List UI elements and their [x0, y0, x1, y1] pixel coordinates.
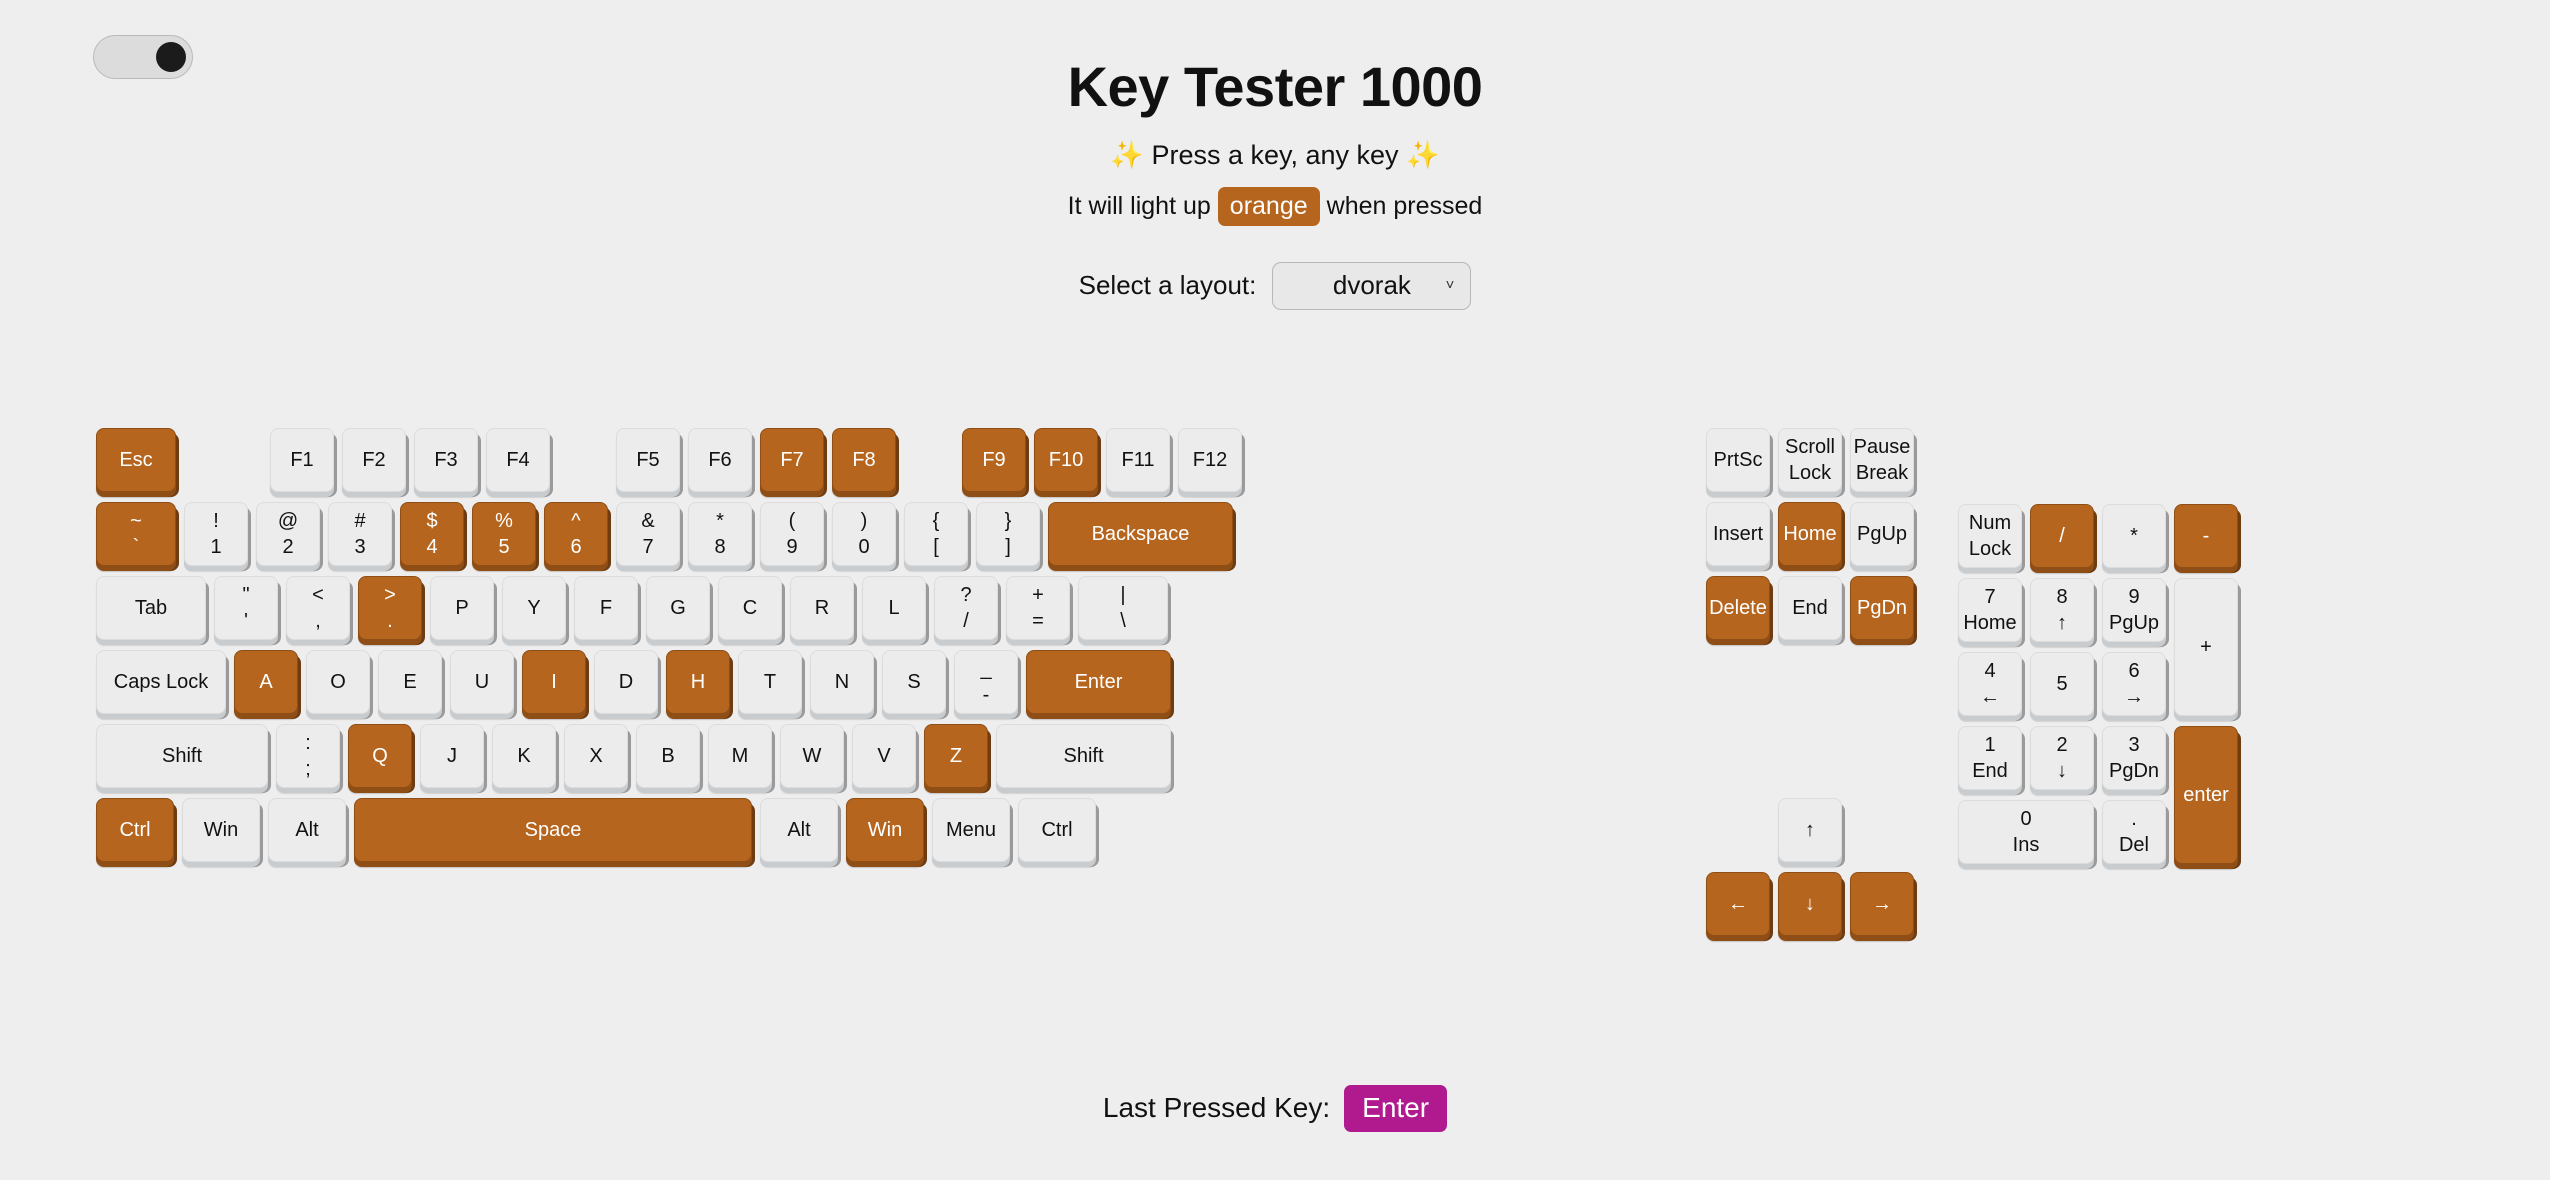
key-a[interactable]: A [234, 650, 298, 714]
key-label: R [815, 597, 829, 619]
key-label-top: Pause [1854, 436, 1911, 458]
key-i[interactable]: I [522, 650, 586, 714]
key-label-top: 6 [2128, 660, 2139, 682]
key-label: L [888, 597, 899, 619]
key-label: W [803, 745, 822, 767]
key-f4[interactable]: F4 [486, 428, 550, 492]
key-num1[interactable]: 1End [1958, 726, 2022, 790]
key-label: Delete [1709, 597, 1767, 619]
key-num5[interactable]: 5 [2030, 652, 2094, 716]
key-arrowdown[interactable]: ↓ [1778, 872, 1842, 936]
key-digit3[interactable]: #3 [328, 502, 392, 566]
page-subtitle: ✨ Press a key, any key ✨ [0, 139, 2550, 171]
key-f11[interactable]: F11 [1106, 428, 1170, 492]
key-space[interactable]: Space [354, 798, 752, 862]
key-label-bottom: PgDn [2109, 760, 2159, 782]
key-label: F4 [506, 449, 529, 471]
key-insert[interactable]: Insert [1706, 502, 1770, 566]
key-label: P [455, 597, 468, 619]
key-label-bottom: ↓ [2057, 760, 2067, 782]
key-label: S [907, 671, 920, 693]
key-p[interactable]: P [430, 576, 494, 640]
key-num2[interactable]: 2↓ [2030, 726, 2094, 790]
key-label-bottom: ' [244, 610, 248, 632]
key-label: Enter [1075, 671, 1123, 693]
key-f5[interactable]: F5 [616, 428, 680, 492]
arrow-cluster-blank [1850, 798, 1914, 862]
key-label-bottom: , [315, 610, 321, 632]
key-row-home: Caps LockAOEUIDHTNS_-Enter [96, 650, 1242, 714]
key-row-tab: Tab"'<,>.PYFGCRL?/+=|\ [96, 576, 1242, 640]
key-label: Shift [1063, 745, 1103, 767]
key-label-bottom: ` [133, 536, 140, 558]
key-label: Space [525, 819, 582, 841]
key-label-top: 7 [1984, 586, 1995, 608]
key-num3[interactable]: 3PgDn [2102, 726, 2166, 790]
key-label-top: 2 [2056, 734, 2067, 756]
key-label-top: ? [960, 584, 971, 606]
key-label: Y [527, 597, 540, 619]
key-label: Alt [295, 819, 318, 841]
key-label-bottom: PgUp [2109, 612, 2159, 634]
page-title: Key Tester 1000 [0, 58, 2550, 117]
key-label-top: } [1005, 510, 1012, 532]
toggle-knob-icon [156, 42, 186, 72]
key-label: Esc [119, 449, 152, 471]
key-label: Shift [162, 745, 202, 767]
key-altright[interactable]: Alt [760, 798, 838, 862]
key-num0[interactable]: 0Ins [1958, 800, 2094, 864]
key-label-top: ( [789, 510, 796, 532]
key-label: End [1792, 597, 1828, 619]
key-u[interactable]: U [450, 650, 514, 714]
key-label: enter [2183, 784, 2229, 806]
key-label: O [330, 671, 346, 693]
key-esc[interactable]: Esc [96, 428, 176, 492]
key-label-bottom: 1 [210, 536, 221, 558]
key-g[interactable]: G [646, 576, 710, 640]
key-label: Win [204, 819, 238, 841]
last-pressed-key: Last Pressed Key: Enter [0, 1085, 2550, 1132]
key-label: / [2059, 525, 2065, 547]
key-label-top: ^ [571, 510, 580, 532]
key-numlock[interactable]: NumLock [1958, 504, 2022, 568]
key-bracketleft[interactable]: {[ [904, 502, 968, 566]
key-label-bottom: Home [1963, 612, 2016, 634]
key-label-bottom: - [983, 684, 990, 706]
key-label: PrtSc [1714, 449, 1763, 471]
key-o[interactable]: O [306, 650, 370, 714]
key-backquote[interactable]: ~` [96, 502, 176, 566]
key-label: U [475, 671, 489, 693]
key-pausebreak[interactable]: PauseBreak [1850, 428, 1914, 492]
key-label: F12 [1193, 449, 1227, 471]
layout-selector-label: Select a layout: [1079, 270, 1257, 301]
key-backslash[interactable]: |\ [1078, 576, 1168, 640]
orange-chip: orange [1218, 187, 1320, 226]
key-row-shift: Shift:;QJKXBMWVZShift [96, 724, 1242, 788]
key-j[interactable]: J [420, 724, 484, 788]
key-num4[interactable]: 4← [1958, 652, 2022, 716]
key-f3[interactable]: F3 [414, 428, 478, 492]
key-label: → [1872, 893, 1892, 915]
key-f2[interactable]: F2 [342, 428, 406, 492]
key-ctrlleft[interactable]: Ctrl [96, 798, 174, 862]
key-label-bottom: \ [1120, 610, 1126, 632]
key-label-top: Scroll [1785, 436, 1835, 458]
key-capslock[interactable]: Caps Lock [96, 650, 226, 714]
key-bracketright[interactable]: }] [976, 502, 1040, 566]
key-d[interactable]: D [594, 650, 658, 714]
key-label-top: 9 [2128, 586, 2139, 608]
key-label: F11 [1122, 449, 1155, 471]
key-h[interactable]: H [666, 650, 730, 714]
key-num9[interactable]: 9PgUp [2102, 578, 2166, 642]
key-equal[interactable]: += [1006, 576, 1070, 640]
key-f7[interactable]: F7 [760, 428, 824, 492]
key-scrolllock[interactable]: ScrollLock [1778, 428, 1842, 492]
key-shiftleft[interactable]: Shift [96, 724, 268, 788]
key-num6[interactable]: 6→ [2102, 652, 2166, 716]
key-label-bottom: 2 [282, 536, 293, 558]
key-label-bottom: [ [933, 536, 939, 558]
key-comma[interactable]: <, [286, 576, 350, 640]
key-label-bottom: ↑ [2057, 612, 2067, 634]
key-label-top: 1 [1984, 734, 1995, 756]
key-label: F2 [362, 449, 385, 471]
key-label-top: | [1120, 584, 1125, 606]
key-numdecimal[interactable]: .Del [2102, 800, 2166, 864]
key-menu[interactable]: Menu [932, 798, 1010, 862]
key-nummultiply[interactable]: * [2102, 504, 2166, 568]
key-label-bottom: 3 [354, 536, 365, 558]
key-label: - [2203, 525, 2210, 547]
key-f12[interactable]: F12 [1178, 428, 1242, 492]
key-quote[interactable]: "' [214, 576, 278, 640]
key-tab[interactable]: Tab [96, 576, 206, 640]
key-label-top: > [384, 584, 396, 606]
key-label: F [600, 597, 612, 619]
key-label: F6 [708, 449, 731, 471]
key-label: Alt [787, 819, 810, 841]
page-tagline: It will light up orange when pressed [0, 187, 2550, 226]
key-label-bottom: 8 [714, 536, 725, 558]
key-digit4[interactable]: $4 [400, 502, 464, 566]
key-label: * [2130, 525, 2138, 547]
key-label: ← [1728, 893, 1748, 915]
key-label-top: ~ [130, 510, 142, 532]
key-label: Backspace [1092, 523, 1190, 545]
key-shiftright[interactable]: Shift [996, 724, 1171, 788]
key-label-bottom: 9 [786, 536, 797, 558]
key-f6[interactable]: F6 [688, 428, 752, 492]
key-label: B [661, 745, 674, 767]
key-digit8[interactable]: *8 [688, 502, 752, 566]
key-label-top: @ [278, 510, 298, 532]
key-digit1[interactable]: !1 [184, 502, 248, 566]
key-label-bottom: End [1972, 760, 2008, 782]
key-label-top: " [242, 584, 249, 606]
key-label: ↓ [1805, 893, 1815, 915]
key-label-top: < [312, 584, 324, 606]
key-s[interactable]: S [882, 650, 946, 714]
key-label-top: ) [861, 510, 868, 532]
key-label: PgDn [1857, 597, 1907, 619]
key-winright[interactable]: Win [846, 798, 924, 862]
key-f8[interactable]: F8 [832, 428, 896, 492]
key-label-bottom: Del [2119, 834, 2149, 856]
key-label-bottom: 4 [426, 536, 437, 558]
key-label-bottom: . [387, 610, 393, 632]
key-label-bottom: ← [1980, 686, 2000, 708]
page-header: Key Tester 1000 ✨ Press a key, any key ✨… [0, 0, 2550, 310]
key-label-bottom: ; [305, 758, 311, 780]
key-row-function: EscF1F2F3F4F5F6F7F8F9F10F11F12 [96, 428, 1242, 492]
key-label-top: # [354, 510, 365, 532]
key-label-top: _ [980, 658, 991, 680]
key-label-bottom: Ins [2013, 834, 2040, 856]
key-label: A [259, 671, 272, 693]
key-label: F10 [1049, 449, 1083, 471]
key-label: H [691, 671, 705, 693]
key-k[interactable]: K [492, 724, 556, 788]
key-c[interactable]: C [718, 576, 782, 640]
key-v[interactable]: V [852, 724, 916, 788]
key-l[interactable]: L [862, 576, 926, 640]
key-label: Caps Lock [114, 671, 209, 693]
dark-mode-toggle[interactable] [93, 35, 193, 79]
key-arrowleft[interactable]: ← [1706, 872, 1770, 936]
key-gap [904, 428, 954, 492]
last-pressed-label: Last Pressed Key: [1103, 1092, 1330, 1124]
key-w[interactable]: W [780, 724, 844, 788]
key-label: T [764, 671, 776, 693]
key-e[interactable]: E [378, 650, 442, 714]
key-t[interactable]: T [738, 650, 802, 714]
key-digit7[interactable]: &7 [616, 502, 680, 566]
key-label: D [619, 671, 633, 693]
key-end[interactable]: End [1778, 576, 1842, 640]
key-x[interactable]: X [564, 724, 628, 788]
key-f[interactable]: F [574, 576, 638, 640]
key-numenter[interactable]: enter [2174, 726, 2238, 864]
key-digit5[interactable]: %5 [472, 502, 536, 566]
key-label-bottom: Break [1856, 462, 1908, 484]
key-label-bottom: / [963, 610, 969, 632]
key-label: PgUp [1857, 523, 1907, 545]
key-period[interactable]: >. [358, 576, 422, 640]
keyboard-arrow-cluster: ↑←↓→ [1706, 798, 1931, 948]
key-f9[interactable]: F9 [962, 428, 1026, 492]
key-pagedown[interactable]: PgDn [1850, 576, 1914, 640]
key-label: E [403, 671, 416, 693]
key-label-bottom: 0 [858, 536, 869, 558]
key-label: Z [950, 745, 962, 767]
key-label-top: : [305, 732, 311, 754]
key-n[interactable]: N [810, 650, 874, 714]
key-label-bottom: Lock [1969, 538, 2011, 560]
key-label-bottom: → [2124, 686, 2144, 708]
key-label: F5 [636, 449, 659, 471]
key-label: J [447, 745, 457, 767]
key-label-top: 3 [2128, 734, 2139, 756]
key-label: ↑ [1805, 819, 1815, 841]
key-label: N [835, 671, 849, 693]
key-label: F3 [434, 449, 457, 471]
key-label: K [517, 745, 530, 767]
key-label: F7 [780, 449, 803, 471]
key-label: V [877, 745, 890, 767]
layout-select[interactable]: dvorak ˅ [1272, 262, 1471, 310]
key-label-top: + [1032, 584, 1044, 606]
key-f10[interactable]: F10 [1034, 428, 1098, 492]
key-label-top: * [716, 510, 724, 532]
tagline-suffix: when pressed [1320, 192, 1490, 221]
key-z[interactable]: Z [924, 724, 988, 788]
key-y[interactable]: Y [502, 576, 566, 640]
key-r[interactable]: R [790, 576, 854, 640]
key-arrowright[interactable]: → [1850, 872, 1914, 936]
key-label: Q [372, 745, 388, 767]
key-label-bottom: 6 [570, 536, 581, 558]
key-pageup[interactable]: PgUp [1850, 502, 1914, 566]
key-slash[interactable]: ?/ [934, 576, 998, 640]
key-label: Ctrl [1041, 819, 1072, 841]
key-label: F1 [290, 449, 313, 471]
key-digit2[interactable]: @2 [256, 502, 320, 566]
key-label: Tab [135, 597, 167, 619]
key-enter[interactable]: Enter [1026, 650, 1171, 714]
key-label: Menu [946, 819, 996, 841]
key-label: M [732, 745, 749, 767]
arrow-cluster-blank [1706, 798, 1770, 862]
tagline-prefix: It will light up [1061, 192, 1218, 221]
key-backspace[interactable]: Backspace [1048, 502, 1233, 566]
key-label-top: { [933, 510, 940, 532]
key-semicolon[interactable]: :; [276, 724, 340, 788]
key-digit6[interactable]: ^6 [544, 502, 608, 566]
key-numdivide[interactable]: / [2030, 504, 2094, 568]
key-label-bottom: 5 [498, 536, 509, 558]
keyboard-nav-cluster: PrtScScrollLockPauseBreakInsertHomePgUpD… [1706, 428, 1914, 640]
key-label-top: Num [1969, 512, 2011, 534]
key-label-top: $ [426, 510, 437, 532]
key-numsubtract[interactable]: - [2174, 504, 2238, 568]
key-label-top: 8 [2056, 586, 2067, 608]
key-label-top: & [641, 510, 654, 532]
key-arrowup[interactable]: ↑ [1778, 798, 1842, 862]
key-label: I [551, 671, 557, 693]
key-num8[interactable]: 8↑ [2030, 578, 2094, 642]
key-num7[interactable]: 7Home [1958, 578, 2022, 642]
key-label: G [670, 597, 686, 619]
key-delete[interactable]: Delete [1706, 576, 1770, 640]
keyboard-numpad: NumLock/*-7Home8↑9PgUp+4←56→1End2↓3PgDne… [1958, 504, 2258, 864]
key-label-bottom: Lock [1789, 462, 1831, 484]
key-home[interactable]: Home [1778, 502, 1842, 566]
key-label: X [589, 745, 602, 767]
key-label: Insert [1713, 523, 1763, 545]
key-digit0[interactable]: )0 [832, 502, 896, 566]
key-row-bottom: CtrlWinAltSpaceAltWinMenuCtrl [96, 798, 1242, 862]
layout-select-value: dvorak [1333, 270, 1411, 301]
key-label-bottom: = [1032, 610, 1044, 632]
key-label-bottom: ] [1005, 536, 1011, 558]
key-label: Win [868, 819, 902, 841]
key-m[interactable]: M [708, 724, 772, 788]
key-gap [184, 428, 262, 492]
key-label-top: 0 [2020, 808, 2031, 830]
key-q[interactable]: Q [348, 724, 412, 788]
layout-selector-row: Select a layout: dvorak ˅ [0, 262, 2550, 310]
keyboard-main-block: EscF1F2F3F4F5F6F7F8F9F10F11F12 ~`!1@2#3$… [96, 428, 1242, 862]
key-label-top: . [2131, 808, 2137, 830]
key-label-top: 4 [1984, 660, 1995, 682]
key-f1[interactable]: F1 [270, 428, 334, 492]
last-pressed-badge: Enter [1344, 1085, 1447, 1132]
key-printscreen[interactable]: PrtSc [1706, 428, 1770, 492]
key-label-bottom: 7 [642, 536, 653, 558]
key-label-top: % [495, 510, 513, 532]
key-minus[interactable]: _- [954, 650, 1018, 714]
key-label: F8 [852, 449, 875, 471]
chevron-down-icon: ˅ [1446, 276, 1455, 293]
key-b[interactable]: B [636, 724, 700, 788]
key-label: Home [1783, 523, 1836, 545]
key-digit9[interactable]: (9 [760, 502, 824, 566]
key-row-number: ~`!1@2#3$4%5^6&7*8(9)0{[}]Backspace [96, 502, 1242, 566]
key-ctrlright[interactable]: Ctrl [1018, 798, 1096, 862]
key-numadd[interactable]: + [2174, 578, 2238, 716]
key-label: 5 [2056, 673, 2067, 695]
key-label: Ctrl [119, 819, 150, 841]
key-label: C [743, 597, 757, 619]
key-label-top: ! [213, 510, 219, 532]
key-label: F9 [982, 449, 1005, 471]
key-altleft[interactable]: Alt [268, 798, 346, 862]
key-label: + [2200, 636, 2212, 658]
key-winleft[interactable]: Win [182, 798, 260, 862]
key-gap [558, 428, 608, 492]
